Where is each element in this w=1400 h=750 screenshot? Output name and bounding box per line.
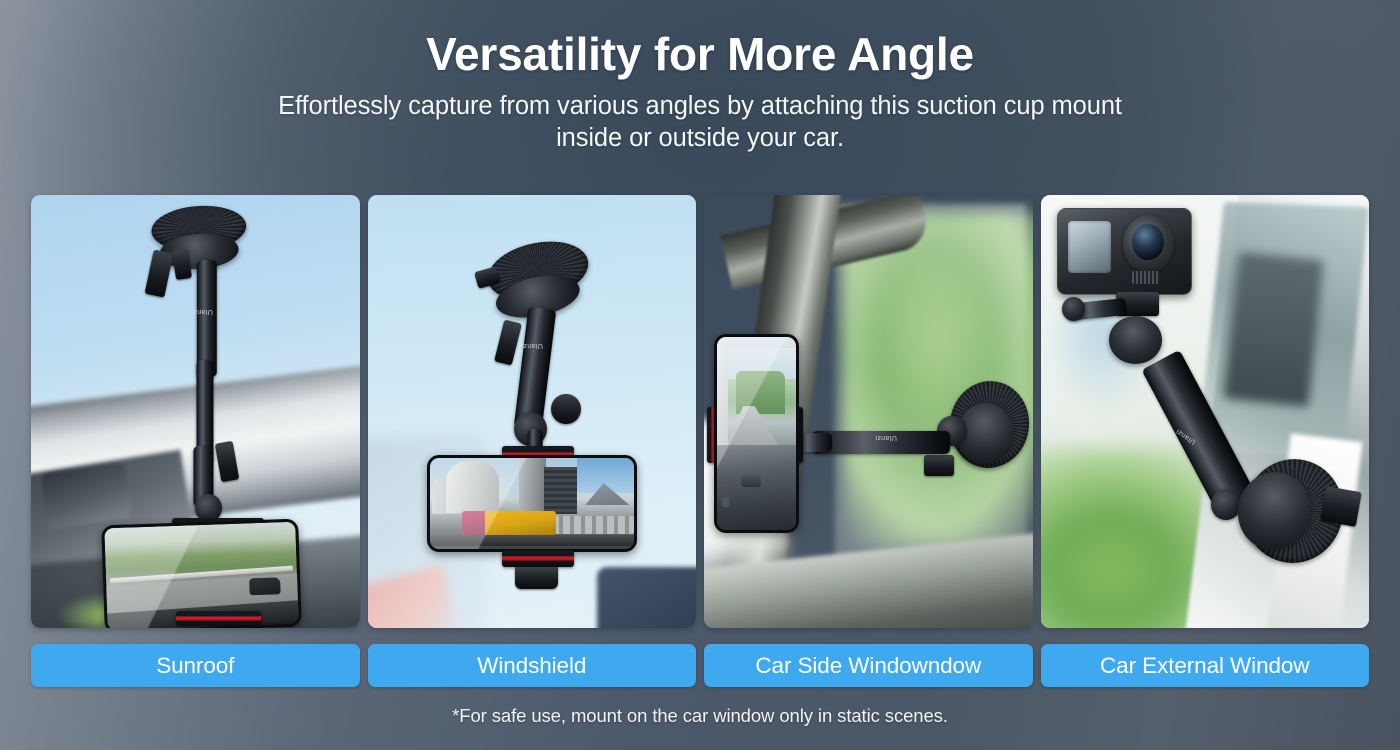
product-feature-banner: Versatility for More Angle Effortlessly … xyxy=(0,0,1400,750)
scene-sunroof: Ulanzi xyxy=(31,195,360,628)
vehicle-ahead xyxy=(250,577,281,594)
caption-windshield[interactable]: Windshield xyxy=(368,644,697,687)
brand-logo-arm: Ulanzi xyxy=(521,342,543,349)
tension-knob xyxy=(924,455,954,477)
caption-car-external-window[interactable]: Car External Window xyxy=(1041,644,1370,687)
freight-cars xyxy=(552,516,634,533)
camera-speaker-grill xyxy=(1132,271,1158,284)
locomotive-front xyxy=(462,511,484,535)
caption-row: Sunroof Windshield Car Side Windowndow C… xyxy=(31,644,1369,687)
scene-windshield: Ulanzi xyxy=(368,195,697,628)
panel-image-car-external-window[interactable]: Ulanzi xyxy=(1041,195,1370,628)
arm-joint-lower xyxy=(1211,489,1241,519)
panel-image-sunroof[interactable]: Ulanzi xyxy=(31,195,360,628)
phone-clamp-bottom xyxy=(176,611,261,627)
caption-sunroof[interactable]: Sunroof xyxy=(31,644,360,687)
smartphone-portrait xyxy=(714,334,799,533)
railway-track xyxy=(430,535,634,546)
brand-logo-arm: Ulanzi xyxy=(875,434,897,441)
subtitle-line-2: inside or outside your car. xyxy=(0,122,1400,154)
scene-car-external-window: Ulanzi xyxy=(1041,195,1370,628)
action-camera-front-screen xyxy=(1068,221,1111,273)
header: Versatility for More Angle Effortlessly … xyxy=(0,0,1400,154)
panel-gallery: Ulanzi xyxy=(31,195,1369,628)
screen-train-scene xyxy=(430,458,634,549)
scene-car-side-window: Ulanzi xyxy=(704,195,1033,628)
dashboard xyxy=(717,445,796,530)
safety-footnote: *For safe use, mount on the car window o… xyxy=(0,705,1400,727)
page-title: Versatility for More Angle xyxy=(0,31,1400,77)
a-pillar xyxy=(717,344,728,452)
phone-clamp-bottom xyxy=(502,550,574,567)
page-subtitle: Effortlessly capture from various angles… xyxy=(0,90,1400,154)
subtitle-line-1: Effortlessly capture from various angles… xyxy=(0,90,1400,122)
dash-button-1 xyxy=(722,497,729,507)
dashboard-corner xyxy=(597,567,696,628)
phone-screen-interior xyxy=(717,337,796,530)
thumbscrew-knob xyxy=(1062,297,1085,321)
camera-lens-icon xyxy=(1132,224,1163,260)
panel-image-windshield[interactable]: Ulanzi xyxy=(368,195,697,628)
clamp-foot xyxy=(515,567,558,589)
panel-image-car-side-window[interactable]: Ulanzi xyxy=(704,195,1033,628)
phone-screen-train xyxy=(430,458,634,549)
suction-lever xyxy=(1320,487,1362,527)
silo-large xyxy=(446,461,499,512)
rearview-mirror xyxy=(41,462,133,530)
industrial-tower xyxy=(519,458,546,513)
office-building xyxy=(544,467,577,515)
rotation-base xyxy=(1109,316,1162,364)
screen-interior-scene xyxy=(717,337,796,530)
smartphone-landscape xyxy=(427,455,637,552)
dash-button-2 xyxy=(722,478,729,488)
brand-logo-pole: Ulanzi xyxy=(191,308,213,315)
air-vent xyxy=(741,474,762,488)
caption-car-side-window[interactable]: Car Side Windowndow xyxy=(704,644,1033,687)
glass-reflection xyxy=(1224,252,1324,407)
